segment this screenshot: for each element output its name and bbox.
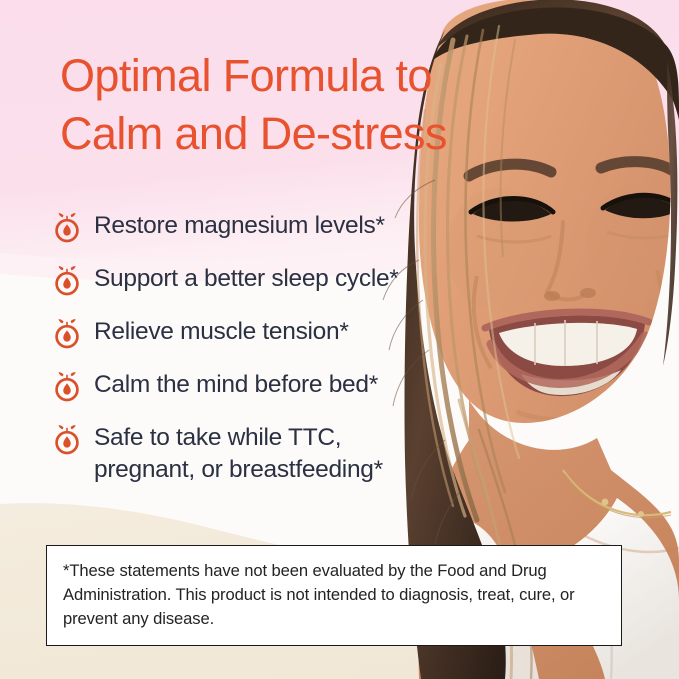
list-item-label: Safe to take while TTC, pregnant, or bre… xyxy=(94,420,383,486)
list-item: Calm the mind before bed* xyxy=(52,367,472,403)
necklace-bead-1 xyxy=(602,499,609,506)
seed-drop-in-circle-icon xyxy=(52,369,82,403)
list-item-label: Support a better sleep cycle* xyxy=(94,261,399,295)
page-title: Optimal Formula to Calm and De-stress xyxy=(60,47,580,162)
seed-drop-in-circle-icon xyxy=(52,316,82,350)
fda-disclaimer: *These statements have not been evaluate… xyxy=(46,545,622,646)
list-item: Restore magnesium levels* xyxy=(52,208,472,244)
seed-drop-in-circle-icon xyxy=(52,263,82,297)
seed-drop-in-circle-icon xyxy=(52,422,82,456)
model-nostril-left xyxy=(544,291,560,301)
list-item: Support a better sleep cycle* xyxy=(52,261,472,297)
model-nostril-right xyxy=(580,288,596,298)
list-item-label: Restore magnesium levels* xyxy=(94,208,385,242)
marketing-graphic: Optimal Formula to Calm and De-stress Re… xyxy=(0,0,679,679)
list-item: Safe to take while TTC, pregnant, or bre… xyxy=(52,420,472,486)
list-item-label: Calm the mind before bed* xyxy=(94,367,378,401)
list-item: Relieve muscle tension* xyxy=(52,314,472,350)
seed-drop-in-circle-icon xyxy=(52,210,82,244)
benefits-list: Restore magnesium levels* Support a bett… xyxy=(52,208,472,486)
list-item-label: Relieve muscle tension* xyxy=(94,314,349,348)
necklace-bead-2 xyxy=(638,511,644,517)
